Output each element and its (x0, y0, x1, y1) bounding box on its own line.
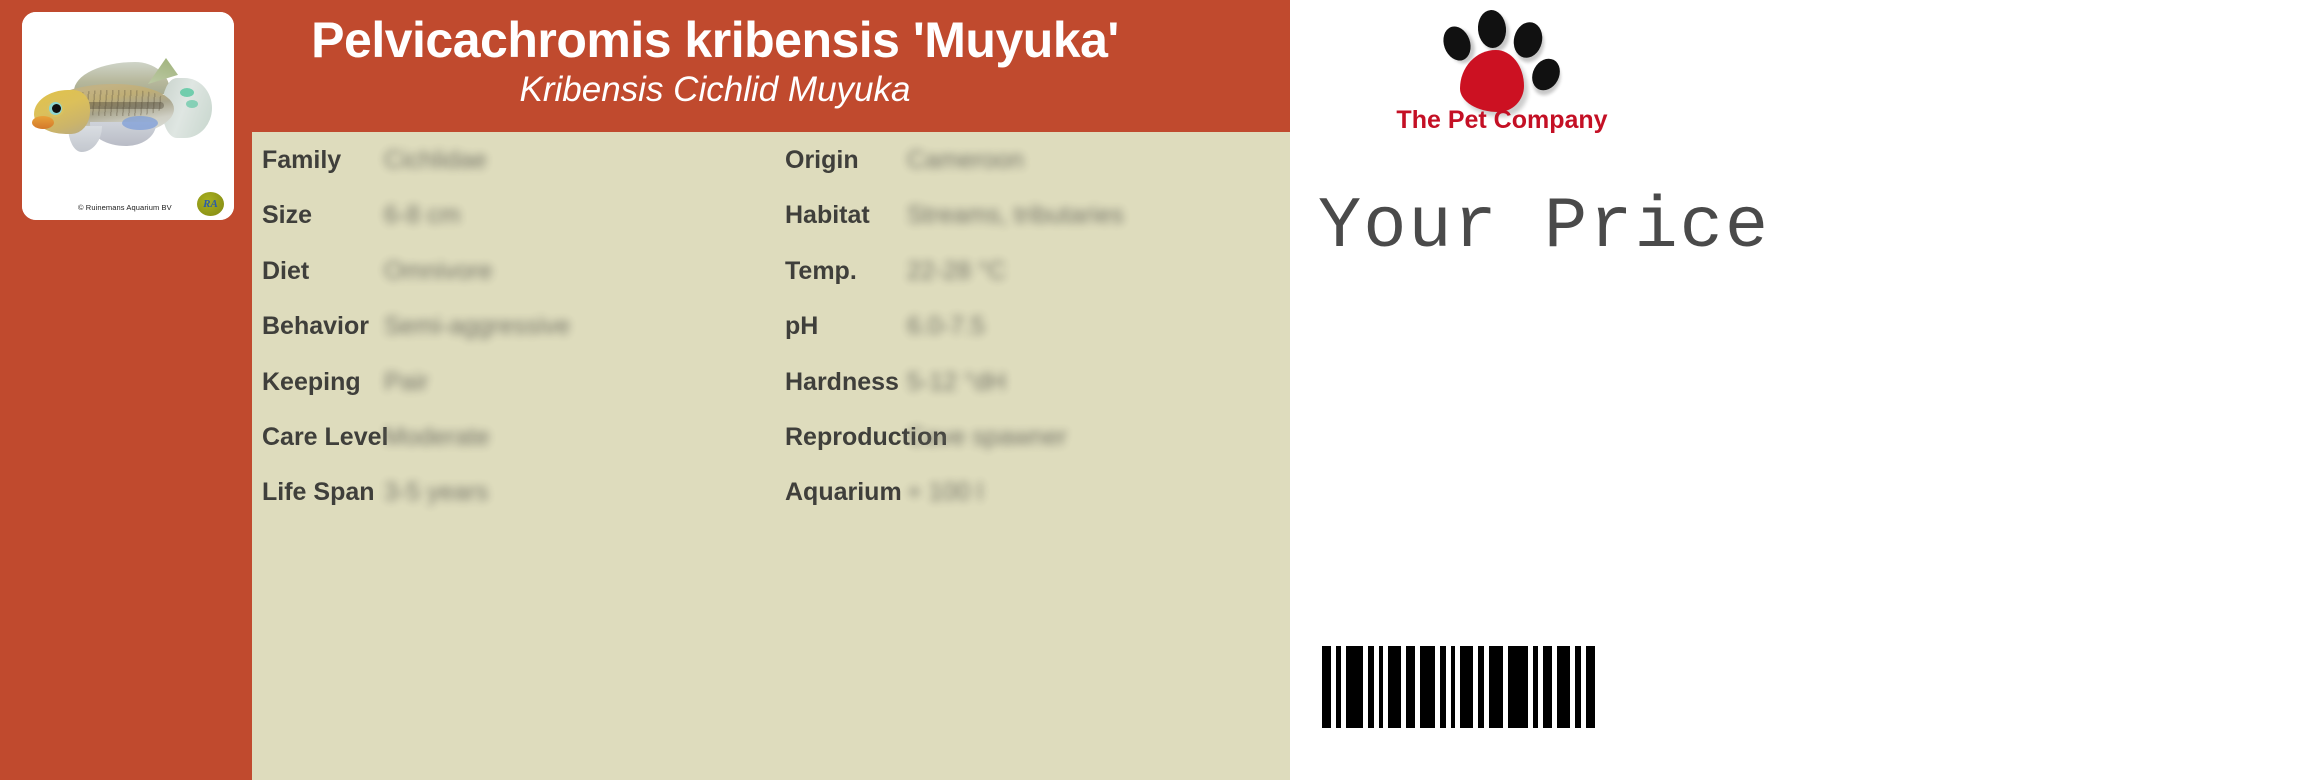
paw-toe-3 (1510, 19, 1546, 61)
spec-value-temp: 22-28 °C (907, 257, 1006, 286)
barcode-bar (1388, 646, 1401, 728)
spec-row-habitat: Habitat Streams, tributaries (785, 201, 1290, 256)
barcode-bar (1368, 646, 1374, 728)
title-block: Pelvicachromis kribensis 'Muyuka' Kriben… (252, 0, 1290, 109)
spec-column-left: Family Cichlidae Size 6-8 cm Diet Omnivo… (252, 132, 771, 780)
spec-value-habitat: Streams, tributaries (907, 201, 1124, 230)
spec-value-life-span: 3-5 years (384, 478, 488, 507)
fish-illustration (30, 58, 222, 162)
title-header-band: Pelvicachromis kribensis 'Muyuka' Kriben… (252, 0, 1290, 132)
spec-label-size: Size (262, 201, 384, 230)
paw-toe-4 (1527, 54, 1565, 95)
fish-blue-sheen (122, 116, 158, 130)
spec-label-life-span: Life Span (262, 478, 384, 507)
spec-label-temp: Temp. (785, 257, 907, 286)
spec-row-reproduction: Reproduction Cave spawner (785, 423, 1290, 478)
barcode-bar (1440, 646, 1446, 728)
spec-label-keeping: Keeping (262, 368, 384, 397)
barcode-bar (1489, 646, 1503, 728)
fish-photo-icon (22, 12, 234, 220)
your-price-label: Your Price (1318, 186, 1770, 268)
spec-row-diet: Diet Omnivore (262, 257, 771, 312)
photo-credit-text: © Ruinemans Aquarium BV (78, 203, 172, 212)
spec-value-ph: 6.0-7.5 (907, 312, 985, 341)
spec-column-right: Origin Cameroon Habitat Streams, tributa… (771, 132, 1290, 780)
spec-value-aquarium: + 100 l (907, 478, 983, 507)
species-photo-card: © Ruinemans Aquarium BV RA (18, 8, 238, 224)
barcode-bar (1557, 646, 1570, 728)
barcode-bar (1379, 646, 1383, 728)
spec-label-hardness: Hardness (785, 368, 907, 397)
spec-value-behavior: Semi-aggressive (384, 312, 570, 341)
spec-row-origin: Origin Cameroon (785, 146, 1290, 201)
scientific-name: Pelvicachromis kribensis 'Muyuka' (252, 0, 1178, 67)
spec-row-life-span: Life Span 3-5 years (262, 478, 771, 533)
spec-label-habitat: Habitat (785, 201, 907, 230)
spec-row-size: Size 6-8 cm (262, 201, 771, 256)
barcode-bar (1586, 646, 1595, 728)
spec-value-origin: Cameroon (907, 146, 1024, 175)
fish-tail-spot (180, 88, 194, 97)
barcode-bar (1406, 646, 1415, 728)
brand-logo: The Pet Company (1370, 4, 1634, 144)
spec-label-diet: Diet (262, 257, 384, 286)
ruinemans-logo-icon: RA (197, 192, 224, 216)
spec-row-ph: pH 6.0-7.5 (785, 312, 1290, 367)
spec-value-reproduction: Cave spawner (907, 423, 1067, 452)
spec-label-behavior: Behavior (262, 312, 384, 341)
spec-row-temp: Temp. 22-28 °C (785, 257, 1290, 312)
fish-tail-spot-secondary (186, 100, 198, 108)
spec-label-aquarium: Aquarium (785, 478, 907, 507)
spec-value-size: 6-8 cm (384, 201, 460, 230)
spec-label-care-level: Care Level (262, 423, 384, 452)
paw-toe-2 (1476, 9, 1507, 49)
spec-label-ph: pH (785, 312, 907, 341)
barcode-bar (1322, 646, 1331, 728)
barcode-bar (1478, 646, 1484, 728)
barcode-bar (1336, 646, 1341, 728)
spec-row-aquarium: Aquarium + 100 l (785, 478, 1290, 533)
spec-value-keeping: Pair (384, 368, 428, 397)
paw-pad (1460, 50, 1524, 112)
barcode-bar (1543, 646, 1552, 728)
barcode-bar (1451, 646, 1455, 728)
spec-row-keeping: Keeping Pair (262, 368, 771, 423)
spec-row-care-level: Care Level Moderate (262, 423, 771, 478)
spec-label-family: Family (262, 146, 384, 175)
common-name: Kribensis Cichlid Muyuka (252, 67, 1178, 110)
spec-value-family: Cichlidae (384, 146, 487, 175)
paw-print-icon (1438, 4, 1566, 104)
shelf-label-card: Pelvicachromis kribensis 'Muyuka' Kriben… (0, 0, 2303, 780)
fish-pupil (52, 104, 61, 113)
barcode-bar (1533, 646, 1538, 728)
paw-toe-1 (1439, 23, 1475, 65)
barcode-icon (1322, 646, 1600, 728)
barcode-bar (1420, 646, 1435, 728)
barcode-bar (1508, 646, 1528, 728)
barcode-bar (1346, 646, 1363, 728)
species-info-panel: Pelvicachromis kribensis 'Muyuka' Kriben… (252, 0, 1290, 780)
ruinemans-logo-text: RA (203, 198, 218, 210)
spec-label-origin: Origin (785, 146, 907, 175)
barcode-bar (1460, 646, 1473, 728)
spec-value-diet: Omnivore (384, 257, 492, 286)
spec-row-hardness: Hardness 5-12 °dH (785, 368, 1290, 423)
spec-grid: Family Cichlidae Size 6-8 cm Diet Omnivo… (252, 132, 1290, 780)
spec-label-reproduction: Reproduction (785, 423, 907, 452)
fish-mouth (32, 116, 54, 129)
barcode-bar (1575, 646, 1581, 728)
price-panel: The Pet Company Your Price (1290, 0, 2303, 780)
brand-name: The Pet Company (1370, 106, 1634, 135)
spec-row-behavior: Behavior Semi-aggressive (262, 312, 771, 367)
spec-value-hardness: 5-12 °dH (907, 368, 1006, 397)
spec-row-family: Family Cichlidae (262, 146, 771, 201)
spec-value-care-level: Moderate (384, 423, 490, 452)
